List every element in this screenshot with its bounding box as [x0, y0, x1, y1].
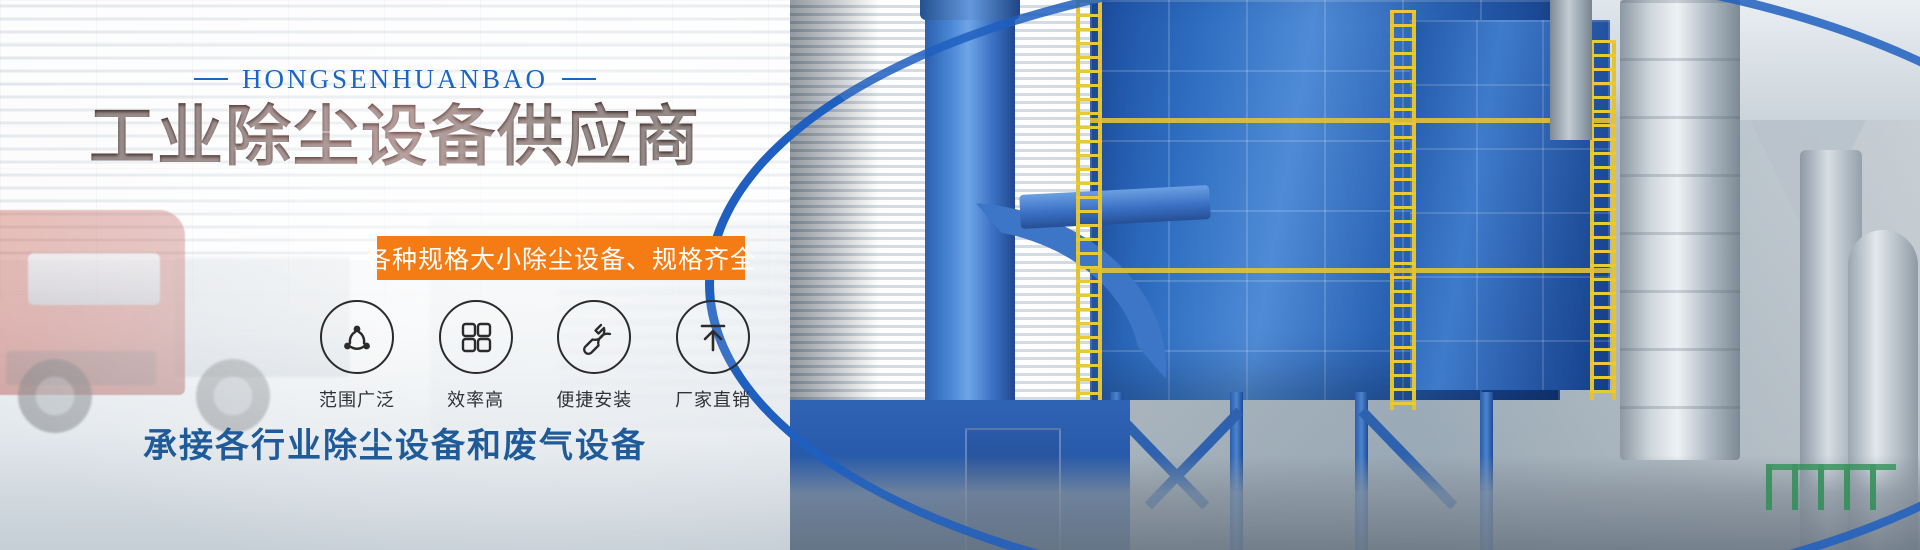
brand-eyebrow: HONGSENHUANBAO	[0, 64, 790, 95]
network-share-icon	[337, 317, 377, 357]
feature-label-2: 效率高	[424, 386, 528, 412]
feature-item-1[interactable]: 范围广泛	[305, 300, 409, 412]
feature-item-3[interactable]: 便捷安装	[542, 300, 646, 412]
headline: 工业除尘设备供应商	[0, 100, 790, 173]
feature-list: 范围广泛 效率高	[305, 300, 765, 412]
feature-icon-circle-4	[676, 300, 750, 374]
up-arrow-line-icon	[694, 318, 732, 356]
tagline: 承接各行业除尘设备和废气设备	[0, 418, 790, 467]
feature-item-2[interactable]: 效率高	[424, 300, 528, 412]
feature-icon-circle-3	[557, 300, 631, 374]
duct-tower-cap	[920, 0, 1020, 20]
subheadline-text: 各种规格大小除尘设备、规格齐全	[366, 240, 756, 276]
yellow-ladder-1	[1076, 0, 1102, 420]
eyebrow-dash-left	[194, 78, 228, 80]
grid-squares-icon	[457, 318, 495, 356]
green-fence	[1766, 464, 1896, 510]
feature-icon-circle-1	[320, 300, 394, 374]
handrail-lower	[1090, 268, 1610, 273]
feature-label-3: 便捷安装	[542, 386, 646, 412]
promo-banner: HONGSENHUANBAO 工业除尘设备供应商 各种规格大小除尘设备、规格齐全	[0, 0, 1920, 550]
eyebrow-dash-right	[562, 78, 596, 80]
factory-photo	[790, 0, 1920, 550]
handrail-upper	[1090, 118, 1610, 123]
feature-icon-circle-2	[439, 300, 513, 374]
eyebrow-text: HONGSENHUANBAO	[242, 64, 548, 94]
exhaust-stack	[1550, 0, 1592, 140]
yellow-ladder-3	[1590, 40, 1616, 400]
silo-bands	[1620, 0, 1740, 460]
banner-content: HONGSENHUANBAO 工业除尘设备供应商 各种规格大小除尘设备、规格齐全	[0, 0, 860, 550]
feature-item-4[interactable]: 厂家直销	[661, 300, 765, 412]
yellow-ladder-2	[1390, 10, 1416, 410]
photo-roofline	[1740, 0, 1920, 120]
wrench-icon	[574, 317, 614, 357]
photo-ground	[790, 455, 1920, 550]
subheadline-bar: 各种规格大小除尘设备、规格齐全	[377, 236, 745, 280]
feature-label-1: 范围广泛	[305, 386, 409, 412]
feature-label-4: 厂家直销	[661, 386, 765, 412]
